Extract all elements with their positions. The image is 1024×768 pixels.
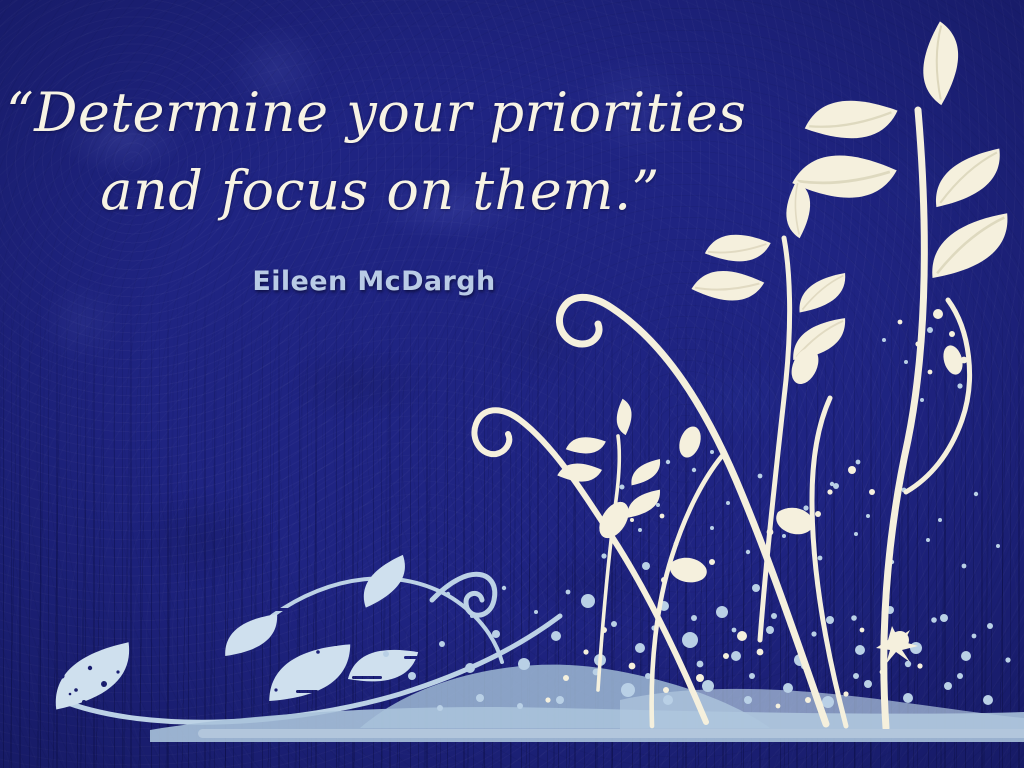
quote-line-1: “Determine your priorities	[0, 74, 700, 152]
bottom-accent-bar	[198, 729, 1024, 738]
quote-line-2: and focus on them.”	[0, 152, 700, 230]
quote-author: Eileen McDargh	[0, 266, 724, 297]
quote-block: “Determine your priorities and focus on …	[0, 74, 700, 230]
tall-leaf-stem-right	[792, 21, 1017, 728]
leaf-sprig-center	[557, 399, 664, 690]
quote-wallpaper: “Determine your priorities and focus on …	[0, 0, 1024, 768]
